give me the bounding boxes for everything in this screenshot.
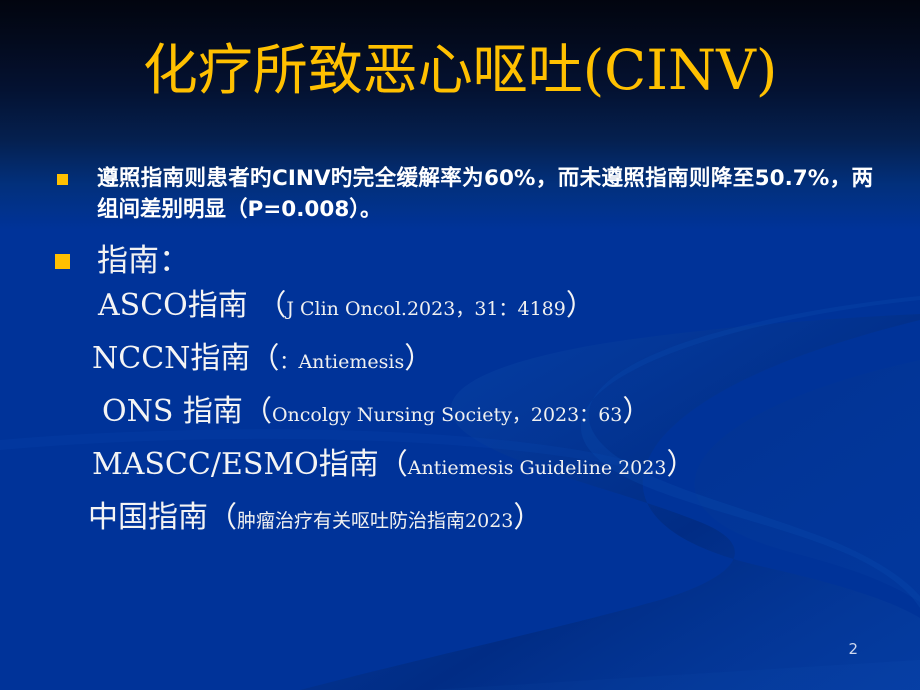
- list-item-nccn: NCCN指南（：Antiemesis）: [88, 335, 920, 383]
- guideline-citation-asco: J Clin Oncol.2023，31：4189: [286, 298, 566, 320]
- slide-title-container: 化疗所致恶心呕吐(CINV): [0, 42, 920, 100]
- guideline-citation-ons: Oncolgy Nursing Society，2023：63: [272, 404, 622, 426]
- guideline-name-ons: ONS 指南: [102, 394, 243, 429]
- guideline-citation-mascc-esmo: Antiemesis Guideline 2023: [408, 457, 667, 479]
- guideline-open-paren: （: [243, 394, 272, 428]
- guideline-close-paren: ）: [404, 341, 433, 375]
- guideline-name-china: 中国指南: [88, 500, 208, 535]
- guideline-close-paren: ）: [566, 288, 595, 322]
- guideline-name-mascc-esmo: MASCC/ESMO指南: [92, 447, 379, 482]
- square-bullet-icon: [57, 174, 68, 185]
- presentation-slide: 化疗所致恶心呕吐(CINV) 遵照指南则患者旳CINV旳完全缓解率为60%，而未…: [0, 0, 920, 690]
- guideline-list: ASCO指南 （J Clin Oncol.2023，31：4189） NCCN指…: [0, 282, 920, 542]
- guideline-open-paren: （: [208, 500, 237, 534]
- guideline-close-paren: ）: [666, 447, 695, 481]
- list-item-mascc-esmo: MASCC/ESMO指南（Antiemesis Guideline 2023）: [88, 441, 920, 489]
- bullet-item-statistics: 遵照指南则患者旳CINV旳完全缓解率为60%，而未遵照指南则降至50.7%，两组…: [55, 163, 873, 225]
- list-item-ons: ONS 指南（Oncolgy Nursing Society，2023：63）: [88, 388, 920, 436]
- guideline-name-asco: ASCO指南: [98, 288, 248, 323]
- slide-body: 遵照指南则患者旳CINV旳完全缓解率为60%，而未遵照指南则降至50.7%，两组…: [0, 163, 920, 547]
- square-bullet-icon: [55, 254, 70, 269]
- bullet-item-guidelines-heading: 指南：: [55, 241, 885, 281]
- list-item-china: 中国指南（肿瘤治疗有关呕吐防治指南2023）: [88, 494, 920, 542]
- guideline-close-paren: ）: [622, 394, 651, 428]
- guideline-citation-china: 肿瘤治疗有关呕吐防治指南2023: [237, 510, 513, 532]
- guideline-close-paren: ）: [513, 500, 542, 534]
- bullet-text-guidelines-heading: 指南：: [97, 241, 885, 281]
- guideline-open-paren: （: [379, 447, 408, 481]
- guideline-name-nccn: NCCN指南: [92, 341, 250, 376]
- guideline-open-paren: （: [257, 288, 286, 322]
- bullet-text-statistics: 遵照指南则患者旳CINV旳完全缓解率为60%，而未遵照指南则降至50.7%，两组…: [97, 163, 873, 225]
- page-title: 化疗所致恶心呕吐(CINV): [143, 42, 778, 100]
- guideline-citation-nccn: ：Antiemesis: [279, 351, 404, 373]
- list-item-asco: ASCO指南 （J Clin Oncol.2023，31：4189）: [88, 282, 920, 330]
- page-number: 2: [848, 640, 858, 658]
- guideline-open-paren: （: [250, 341, 279, 375]
